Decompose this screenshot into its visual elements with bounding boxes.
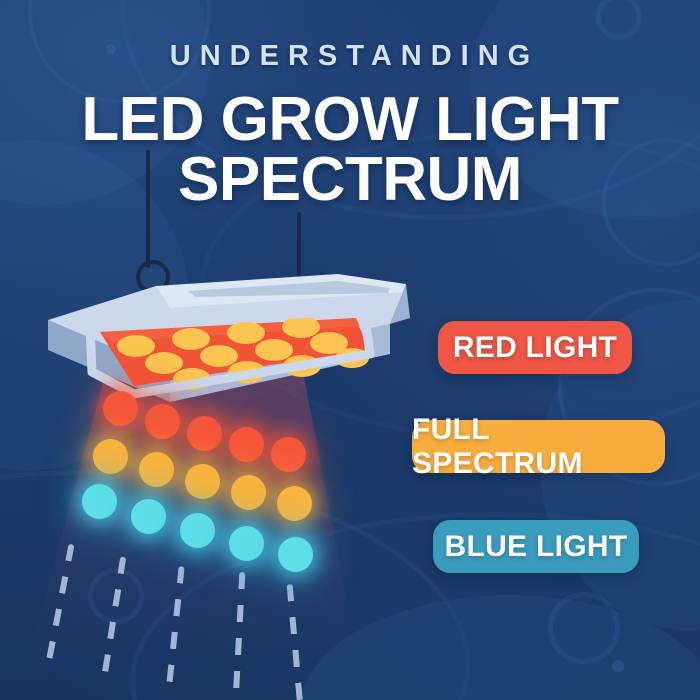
- blue-light-dot: [82, 484, 117, 519]
- led-grow-light-panel: [38, 262, 438, 442]
- led-chip: [117, 335, 155, 357]
- page-title-line-1: LED GROW LIGHT: [81, 85, 618, 154]
- page-title: LED GROW LIGHT SPECTRUM: [0, 90, 700, 209]
- legend-badge-full-spectrum[interactable]: FULL SPECTRUM: [412, 420, 665, 473]
- full-spectrum-dot: [139, 452, 174, 487]
- full-spectrum-dot: [231, 475, 266, 510]
- red-light-dot: [229, 427, 264, 462]
- red-light-dot: [271, 437, 306, 472]
- blue-light-dot: [229, 526, 264, 561]
- full-spectrum-dot: [185, 464, 220, 499]
- red-light-dot: [187, 416, 222, 451]
- full-spectrum-dot: [93, 439, 128, 474]
- page-title-line-2: SPECTRUM: [0, 150, 700, 210]
- led-chip: [282, 316, 320, 338]
- led-chip: [227, 322, 265, 344]
- blue-light-dot: [278, 537, 313, 572]
- led-chip: [172, 328, 210, 350]
- red-light-dot: [103, 391, 138, 426]
- full-spectrum-dot: [277, 486, 312, 521]
- led-chip: [145, 352, 183, 374]
- led-chip: [200, 345, 238, 367]
- blue-light-dot: [180, 513, 215, 548]
- led-chip: [255, 339, 293, 361]
- heading-block: UNDERSTANDING LED GROW LIGHT SPECTRUM: [0, 42, 700, 209]
- red-light-dot: [145, 404, 180, 439]
- page-eyebrow: UNDERSTANDING: [0, 42, 700, 71]
- legend-badge-blue-light[interactable]: BLUE LIGHT: [433, 520, 639, 573]
- bg-dot-2: [612, 660, 624, 672]
- blue-light-dot: [131, 499, 166, 534]
- legend-badge-red-light[interactable]: RED LIGHT: [438, 321, 632, 374]
- infographic-poster: UNDERSTANDING LED GROW LIGHT SPECTRUM RE…: [0, 0, 700, 700]
